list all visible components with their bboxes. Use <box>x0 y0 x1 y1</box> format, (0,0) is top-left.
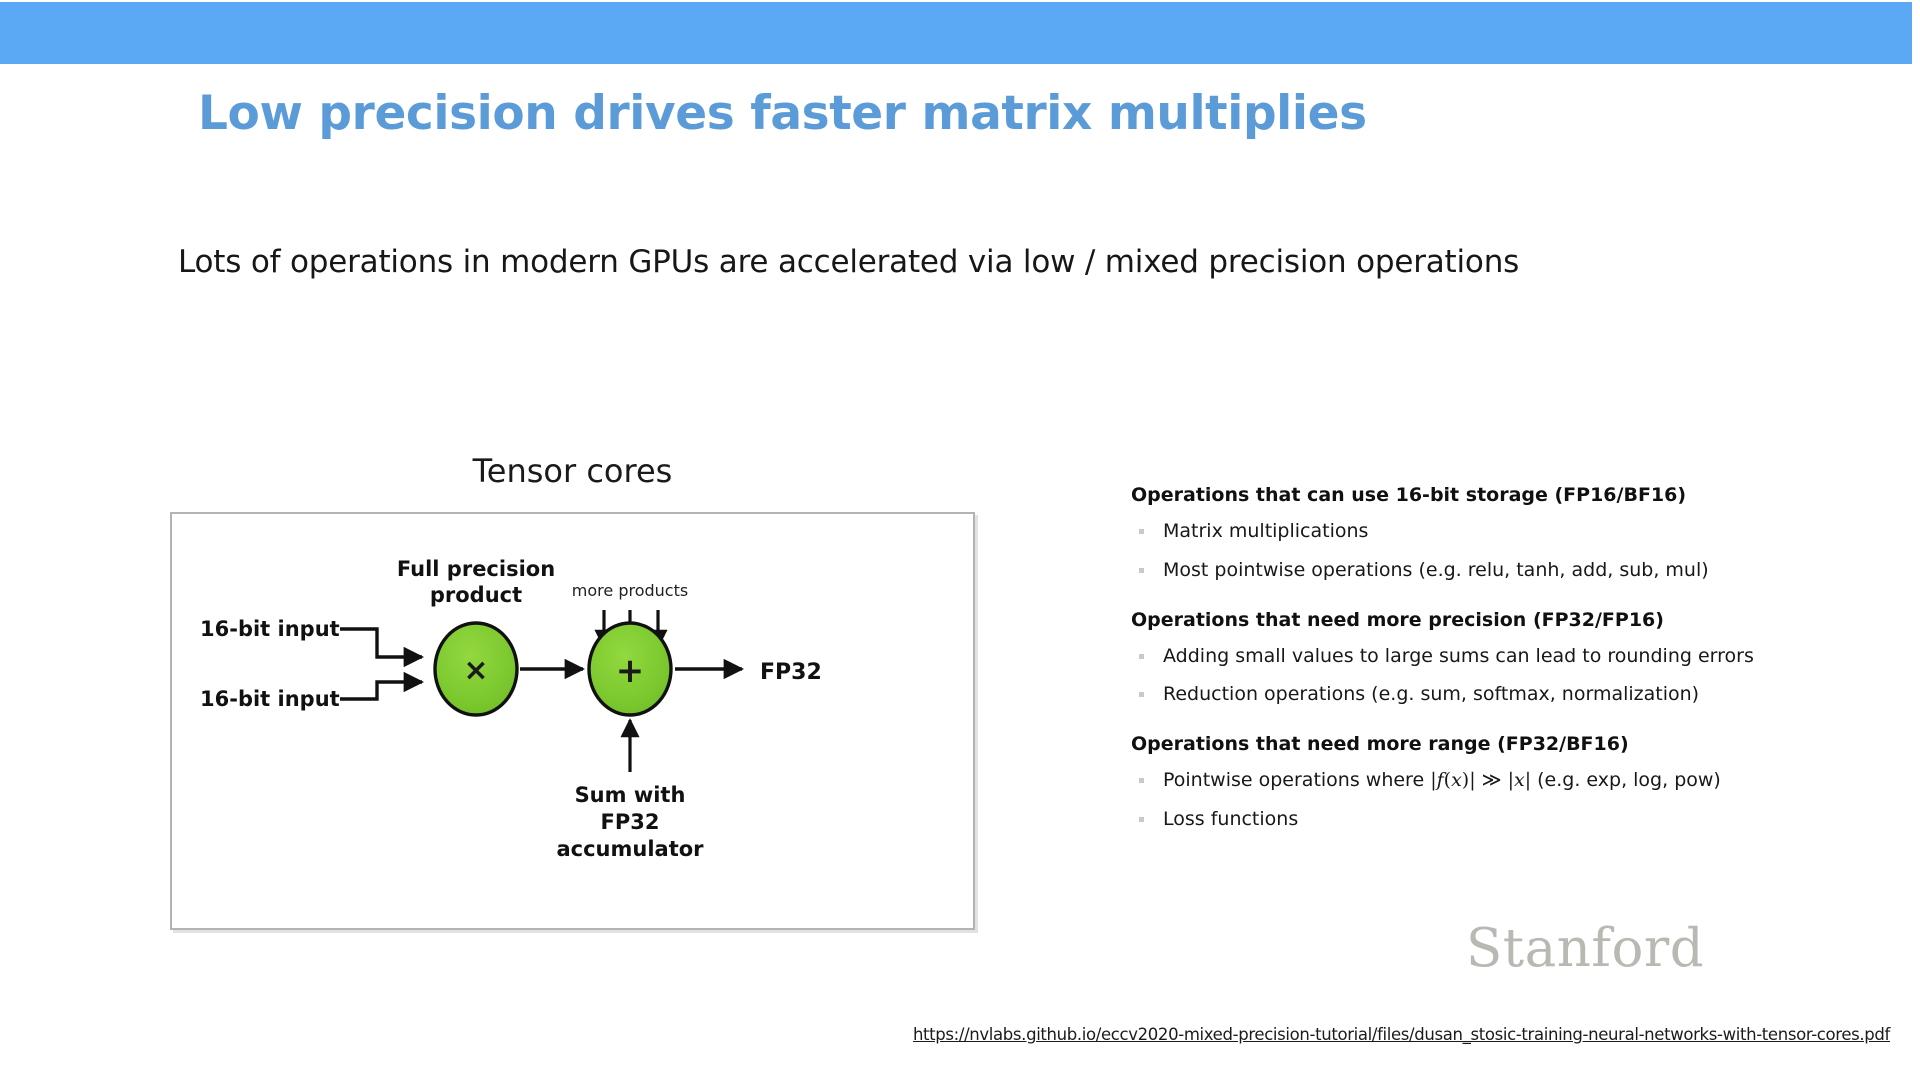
page-title: Low precision drives faster matrix multi… <box>198 86 1367 141</box>
multiply-symbol: × <box>463 653 488 688</box>
list-item-label: Reduction operations (e.g. sum, softmax,… <box>1163 683 1699 705</box>
list-item: Pointwise operations where |f(x)| ≫ |x| … <box>1131 769 1871 792</box>
bullet-dot-icon <box>1139 817 1144 822</box>
accumulate-node: + <box>589 623 671 715</box>
multiply-node: × <box>435 623 517 715</box>
add-symbol: + <box>616 651 645 691</box>
list-item: Adding small values to large sums can le… <box>1131 645 1871 668</box>
bullet-dot-icon <box>1139 568 1144 573</box>
inline-math-expression: |f(x)| ≫ |x| <box>1430 769 1531 791</box>
input-label-bottom: 16-bit input <box>200 687 340 711</box>
full-precision-caption-line1: Full precision <box>397 557 555 581</box>
figure-heading: Tensor cores <box>170 452 975 490</box>
top-accent-bar <box>0 2 1912 64</box>
bullet-group-heading-1: Operations that need more precision (FP3… <box>1131 609 1871 631</box>
accumulator-caption-line3: accumulator <box>556 837 704 861</box>
bullet-dot-icon <box>1139 529 1144 534</box>
group-spacer <box>1131 598 1871 609</box>
operations-list: Operations that can use 16-bit storage (… <box>1131 484 1871 847</box>
list-item-label: Adding small values to large sums can le… <box>1163 645 1754 667</box>
bullet-group-heading-0: Operations that can use 16-bit storage (… <box>1131 484 1871 506</box>
bullet-dot-icon <box>1139 654 1144 659</box>
list-item: Reduction operations (e.g. sum, softmax,… <box>1131 683 1871 706</box>
list-item-label: Pointwise operations where |f(x)| ≫ |x| … <box>1163 769 1721 791</box>
tensor-core-svg: Full precision product more products 16-… <box>172 514 973 928</box>
list-item: Most pointwise operations (e.g. relu, ta… <box>1131 559 1871 582</box>
source-url-link[interactable]: https://nvlabs.github.io/eccv2020-mixed-… <box>0 1025 1890 1044</box>
stanford-wordmark: Stanford <box>1466 918 1704 979</box>
list-item-label: Loss functions <box>1163 808 1298 830</box>
bullet-dot-icon <box>1139 778 1144 783</box>
accumulator-caption-line2: FP32 <box>601 810 660 834</box>
output-label: FP32 <box>760 660 822 685</box>
accumulator-caption-line1: Sum with <box>575 783 686 807</box>
list-item-label: Matrix multiplications <box>1163 520 1368 542</box>
group-spacer <box>1131 722 1871 733</box>
input-label-top: 16-bit input <box>200 617 340 641</box>
bullet-group-heading-2: Operations that need more range (FP32/BF… <box>1131 733 1871 755</box>
list-item: Matrix multiplications <box>1131 520 1871 543</box>
bullet-dot-icon <box>1139 692 1144 697</box>
more-products-label: more products <box>572 581 688 600</box>
full-precision-caption-line2: product <box>430 583 522 607</box>
list-item: Loss functions <box>1131 808 1871 831</box>
slide-subtitle: Lots of operations in modern GPUs are ac… <box>178 244 1519 280</box>
tensor-core-diagram: Full precision product more products 16-… <box>170 512 975 930</box>
input-wires <box>340 629 422 699</box>
list-item-label: Most pointwise operations (e.g. relu, ta… <box>1163 559 1709 581</box>
